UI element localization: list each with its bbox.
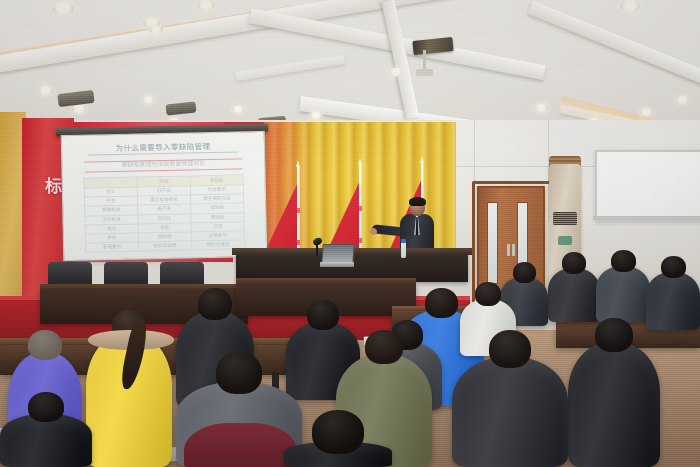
attendee-torso <box>548 268 600 322</box>
attendee-torso <box>568 342 660 467</box>
attendee-head <box>562 252 586 274</box>
conference-room-photo: 标 语 为什么需要导入零缺陷管理 零缺陷管理与传统质量管理对比 <box>0 0 700 467</box>
attendee-torso <box>452 357 568 467</box>
attendee-black-jacket-c <box>568 318 660 467</box>
attendee-head <box>365 330 403 364</box>
attendee-front-dark-g <box>284 410 392 467</box>
attendee-head <box>595 318 633 352</box>
attendee-head <box>513 262 536 283</box>
attendee-head <box>28 330 62 360</box>
attendee-torso <box>596 266 650 322</box>
attendee-dark-puffer-b <box>452 330 568 467</box>
attendee-head <box>216 352 262 394</box>
attendee-head <box>611 250 636 272</box>
attendee-head <box>307 300 339 330</box>
attendee-head <box>198 288 232 320</box>
attendee-head <box>475 282 501 306</box>
attendee-yellow-jacket <box>86 310 172 467</box>
jacket-color-band <box>184 423 297 467</box>
attendee-front-dark-f <box>0 392 92 467</box>
attendee-back-row-a <box>548 252 600 322</box>
attendee-head <box>425 288 458 318</box>
attendee-head <box>661 256 686 278</box>
attendee-head <box>312 410 364 454</box>
attendee-head <box>489 330 531 368</box>
attendee-head <box>28 392 64 422</box>
audience <box>0 0 700 467</box>
attendee-back-row-b <box>596 250 650 322</box>
